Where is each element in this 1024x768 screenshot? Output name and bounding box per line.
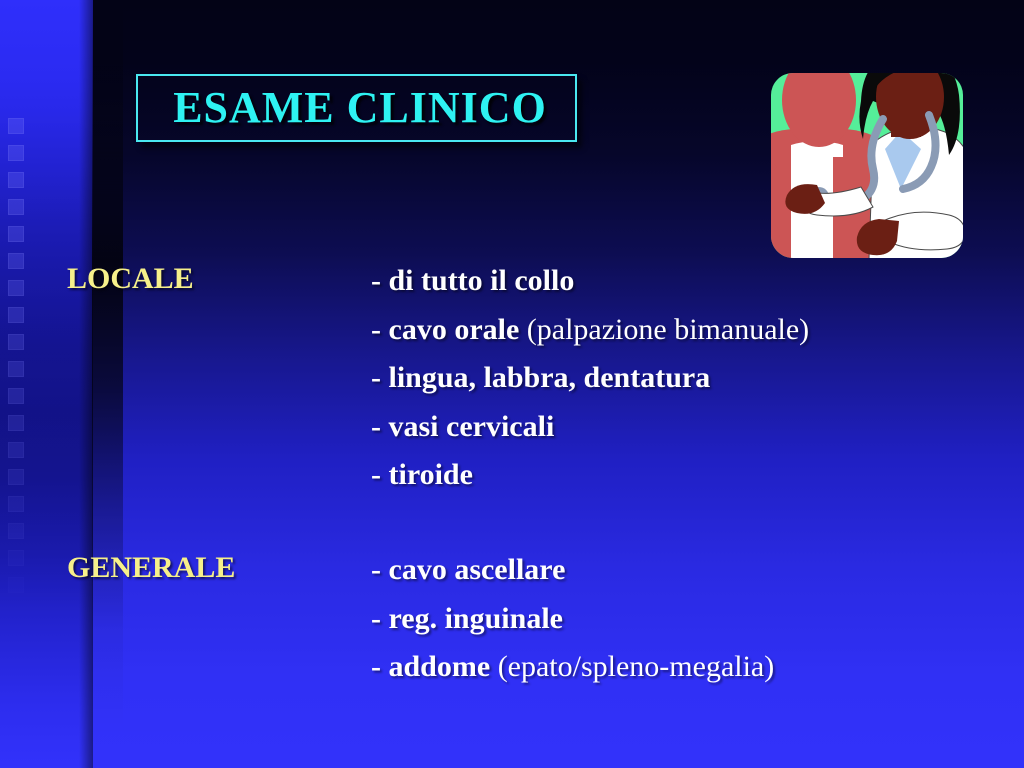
page-title: ESAME CLINICO [150,78,570,138]
bullet-item-note: (epato/spleno-megalia) [490,650,774,683]
bullet-marker: - [371,313,389,346]
decorative-square [8,226,24,242]
bullet-item-term: cavo ascellare [389,553,566,586]
section-label-generale: GENERALE [67,551,235,585]
bullet-marker: - [371,650,389,683]
bullet-item-term: cavo orale [389,313,520,346]
decorative-square [8,280,24,296]
bullet-list-item: - tiroide [371,455,991,504]
bullet-list-item: - lingua, labbra, dentatura [371,358,991,407]
decorative-square [8,253,24,269]
bullet-item-note: (palpazione bimanuale) [519,313,809,346]
decorative-square [8,172,24,188]
decorative-square [8,577,24,593]
bullet-item-term: reg. inguinale [389,602,563,635]
presentation-slide: ESAME CLINICO LOCALE - di tutto il collo… [0,0,1024,768]
bullet-marker: - [371,602,389,635]
bullet-marker: - [371,458,389,491]
decorative-square [8,415,24,431]
bullet-list-item: - cavo ascellare [371,550,991,599]
bullet-item-term: addome [389,650,491,683]
slide-dark-vertical-band [92,0,123,768]
clipart-patient-head [782,53,856,147]
bullet-list-item: - cavo orale (palpazione bimanuale) [371,310,991,359]
decorative-square [8,118,24,134]
bullet-marker: - [371,553,389,586]
decorative-square [8,334,24,350]
bullet-item-term: lingua, labbra, dentatura [389,361,711,394]
bullet-list-locale: - di tutto il collo- cavo orale (palpazi… [371,261,991,504]
bullet-item-term: di tutto il collo [389,264,575,297]
decorative-square [8,496,24,512]
decorative-square [8,199,24,215]
bullet-list-item: - di tutto il collo [371,261,991,310]
bullet-list-item: - reg. inguinale [371,599,991,648]
decorative-square [8,469,24,485]
decorative-square [8,442,24,458]
decorative-square-column [8,118,28,604]
bullet-list-generale: - cavo ascellare- reg. inguinale- addome… [371,550,991,696]
bullet-item-term: tiroide [389,458,473,491]
section-label-locale: LOCALE [67,262,194,296]
decorative-square [8,388,24,404]
decorative-square [8,307,24,323]
decorative-square [8,523,24,539]
bullet-list-item: - addome (epato/spleno-megalia) [371,647,991,696]
decorative-square [8,145,24,161]
bullet-item-term: vasi cervicali [389,410,555,443]
bullet-marker: - [371,361,389,394]
bullet-list-item: - vasi cervicali [371,407,991,456]
decorative-square [8,361,24,377]
bullet-marker: - [371,264,389,297]
bullet-marker: - [371,410,389,443]
doctor-patient-clipart [733,45,968,263]
decorative-square [8,550,24,566]
